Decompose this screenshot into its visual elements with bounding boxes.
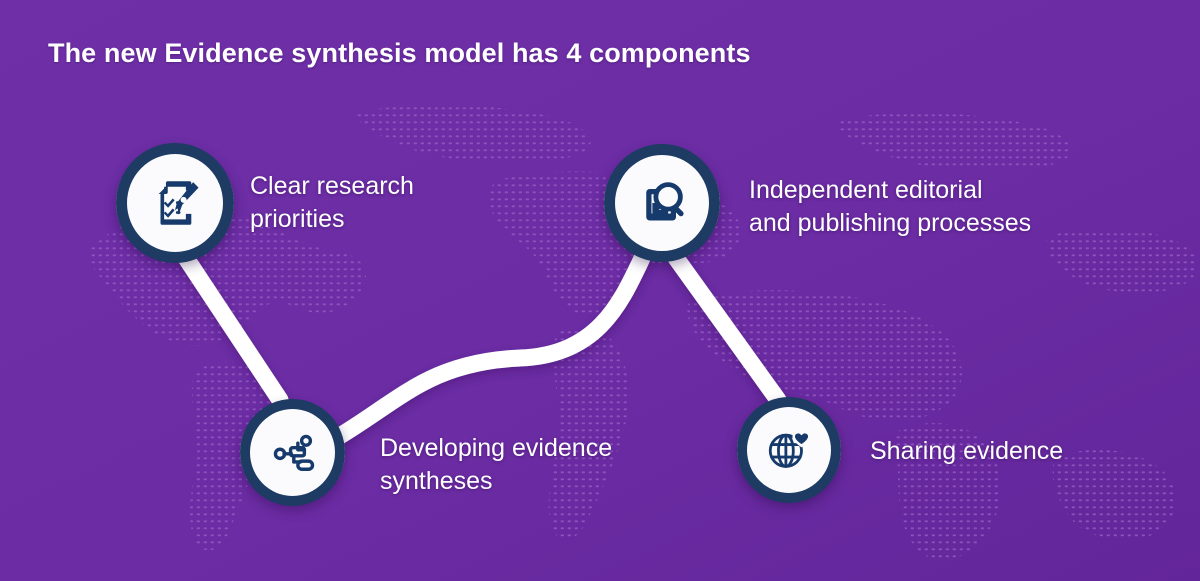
- node-clear-research-priorities[interactable]: [116, 144, 234, 262]
- clipboard-checklist-pen-icon: [146, 174, 204, 232]
- node-sharing-evidence[interactable]: [737, 398, 841, 502]
- document-magnifier-icon: [634, 175, 690, 231]
- label-developing-evidence-syntheses: Developing evidence syntheses: [380, 432, 612, 498]
- network-flowchart-icon: [267, 427, 319, 479]
- node-ring: [604, 144, 720, 262]
- label-clear-research-priorities: Clear research priorities: [250, 170, 414, 236]
- globe-heart-icon: [764, 425, 814, 475]
- label-independent-editorial-and-publishing-processes: Independent editorial and publishing pro…: [749, 174, 1031, 240]
- node-ring: [240, 399, 345, 506]
- node-ring: [737, 397, 841, 503]
- node-ring: [116, 143, 234, 263]
- node-independent-editorial-and-publishing-processes[interactable]: [604, 145, 720, 261]
- label-sharing-evidence: Sharing evidence: [870, 435, 1063, 468]
- evidence-synthesis-infographic: The new Evidence synthesis model has 4 c…: [0, 0, 1200, 581]
- node-developing-evidence-syntheses[interactable]: [240, 400, 345, 505]
